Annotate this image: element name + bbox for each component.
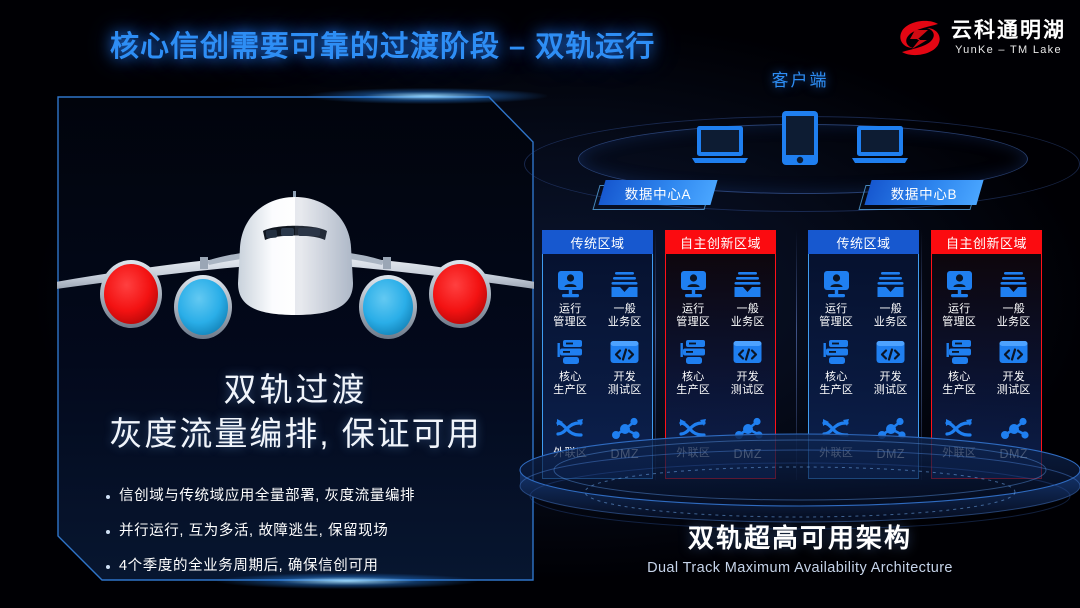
zone-cell-label: DMZ [989,447,1039,462]
zone-row: 运行 管理区 一般 业务区 [809,270,918,329]
tray-stack-icon [866,270,916,300]
bullet-dot-icon [106,565,110,569]
zone-cell[interactable]: 运行 管理区 [668,270,718,329]
zone-header: 传统区域 [808,230,919,254]
network-nodes-icon [989,414,1039,444]
swirl-logo-icon [898,18,942,58]
code-window-icon [989,338,1039,368]
user-monitor-icon [545,270,595,300]
zone-cell-label: 一般 业务区 [989,303,1039,329]
zone-header: 自主创新区域 [931,230,1042,254]
logo-name-en: YunKe – TM Lake [955,44,1062,56]
architecture-caption: 双轨超高可用架构 Dual Track Maximum Availability… [520,518,1080,576]
datacenter-tag-a[interactable]: 数据中心A [602,180,714,206]
datacenter-tag-label: 数据中心A [602,180,714,205]
zone-body: 运行 管理区 一般 业务区 [808,254,919,479]
zone-cell[interactable]: 开发 测试区 [866,338,916,397]
bullet-dot-icon [106,530,110,534]
brand-logo: 云科通明湖 YunKe – TM Lake [898,18,1066,58]
laptop-icon [689,124,751,166]
zone-header: 自主创新区域 [665,230,776,254]
zone-row: 外联区 DMZ [809,414,918,462]
zone-cell-label: 运行 管理区 [811,303,861,329]
headline-line-1: 双轨过渡 [57,368,534,412]
branch-arrows-icon [668,414,718,444]
zone-cell-label: 外联区 [545,447,595,460]
tray-stack-icon [600,270,650,300]
zone-row: 核心 生产区 开发 测试区 [543,338,652,397]
laptop-icon [849,124,911,166]
tray-stack-icon [723,270,773,300]
zone-cell[interactable]: DMZ [866,414,916,462]
zone-cell[interactable]: 运行 管理区 [934,270,984,329]
zone-column-b-traditional[interactable]: 传统区域 运行 管理区 [808,230,919,479]
list-item: 信创域与传统域应用全量部署, 灰度流量编排 [106,486,526,508]
code-window-icon [866,338,916,368]
zone-cell[interactable]: DMZ [723,414,773,462]
server-rack-icon [811,338,861,368]
zone-cell-label: 外联区 [811,447,861,460]
caption-cn: 双轨超高可用架构 [520,518,1080,555]
column-divider [655,230,656,480]
server-rack-icon [545,338,595,368]
network-nodes-icon [723,414,773,444]
user-monitor-icon [934,270,984,300]
zone-row: 核心 生产区 开发 测试区 [809,338,918,397]
headline-line-2: 灰度流量编排, 保证可用 [57,412,534,456]
zone-cell-label: DMZ [866,447,916,462]
list-item: 并行运行, 互为多活, 故障逃生, 保留现场 [106,521,526,543]
zone-cell-label: 运行 管理区 [934,303,984,329]
slide-canvas: 核心信创需要可靠的过渡阶段 – 双轨运行 云科通明湖 YunKe – TM La… [0,0,1080,608]
network-nodes-icon [600,414,650,444]
left-feature-panel: 双轨过渡 灰度流量编排, 保证可用 信创域与传统域应用全量部署, 灰度流量编排 … [57,96,534,581]
zone-cell[interactable]: 核心 生产区 [545,338,595,397]
zone-row: 外联区 DMZ [543,414,652,462]
zone-body: 运行 管理区 一般 业务区 [542,254,653,479]
zone-cell[interactable]: 核心 生产区 [811,338,861,397]
zone-cell[interactable]: 核心 生产区 [668,338,718,397]
zone-cell[interactable]: 外联区 [545,414,595,462]
tray-stack-icon [989,270,1039,300]
zone-cell[interactable]: 一般 业务区 [723,270,773,329]
bullet-text: 信创域与传统域应用全量部署, 灰度流量编排 [119,486,415,508]
code-window-icon [723,338,773,368]
datacenter-tag-b[interactable]: 数据中心B [868,180,980,206]
bullet-text: 4个季度的全业务周期后, 确保信创可用 [119,556,379,578]
zone-cell-label: 开发 测试区 [600,371,650,397]
zone-cell-label: 运行 管理区 [668,303,718,329]
zone-row: 核心 生产区 开发 测试区 [932,338,1041,397]
branch-arrows-icon [545,414,595,444]
zone-row: 外联区 DMZ [932,414,1041,462]
zone-header: 传统区域 [542,230,653,254]
datacenter-tag-label: 数据中心B [868,180,980,205]
zone-cell[interactable]: 一般 业务区 [866,270,916,329]
zone-cell-label: 开发 测试区 [866,371,916,397]
zone-cell-label: 一般 业务区 [866,303,916,329]
zone-cell-label: 开发 测试区 [723,371,773,397]
logo-text: 云科通明湖 YunKe – TM Lake [951,20,1066,56]
zone-cell-label: DMZ [723,447,773,462]
list-item: 4个季度的全业务周期后, 确保信创可用 [106,556,526,578]
logo-name-cn: 云科通明湖 [951,20,1066,42]
client-tier-label: 客户端 [520,66,1080,91]
zone-cell-label: 一般 业务区 [723,303,773,329]
zone-cell[interactable]: 一般 业务区 [989,270,1039,329]
zone-cell[interactable]: 外联区 [934,414,984,462]
zone-cell[interactable]: 运行 管理区 [545,270,595,329]
zone-cell-label: 运行 管理区 [545,303,595,329]
zone-cell-label: 一般 业务区 [600,303,650,329]
zone-cell-label: 外联区 [668,447,718,460]
column-divider [921,230,922,480]
zone-cell-label: 核心 生产区 [668,371,718,397]
zone-body: 运行 管理区 一般 业务区 [931,254,1042,479]
bullet-list: 信创域与传统域应用全量部署, 灰度流量编排 并行运行, 互为多活, 故障逃生, … [106,486,526,590]
server-rack-icon [934,338,984,368]
server-rack-icon [668,338,718,368]
user-monitor-icon [668,270,718,300]
zone-cell-label: 外联区 [934,447,984,460]
code-window-icon [600,338,650,368]
zone-row: 运行 管理区 一般 业务区 [666,270,775,329]
branch-arrows-icon [811,414,861,444]
zone-cell[interactable]: DMZ [989,414,1039,462]
zone-cell[interactable]: 开发 测试区 [723,338,773,397]
headline-block: 双轨过渡 灰度流量编排, 保证可用 [57,368,534,455]
zone-column-a-traditional[interactable]: 传统区域 运行 管理区 [542,230,653,479]
zone-cell-label: 核心 生产区 [811,371,861,397]
zone-column-b-innovation[interactable]: 自主创新区域 运行 管理区 [931,230,1042,479]
caption-en: Dual Track Maximum Availability Architec… [520,560,1080,576]
bullet-text: 并行运行, 互为多活, 故障逃生, 保留现场 [119,521,388,543]
zone-cell[interactable]: DMZ [600,414,650,462]
zone-cell[interactable]: 外联区 [811,414,861,462]
zone-cell-label: 核心 生产区 [934,371,984,397]
bullet-dot-icon [106,495,110,499]
zone-row: 核心 生产区 开发 测试区 [666,338,775,397]
zone-body: 运行 管理区 一般 业务区 [665,254,776,479]
zone-cell[interactable]: 一般 业务区 [600,270,650,329]
zone-cell[interactable]: 核心 生产区 [934,338,984,397]
zone-cell[interactable]: 外联区 [668,414,718,462]
zone-cell[interactable]: 开发 测试区 [989,338,1039,397]
zone-row: 运行 管理区 一般 业务区 [932,270,1041,329]
branch-arrows-icon [934,414,984,444]
zone-cell-label: DMZ [600,447,650,462]
client-device-row [520,100,1080,166]
zone-row: 运行 管理区 一般 业务区 [543,270,652,329]
network-nodes-icon [866,414,916,444]
zone-cell[interactable]: 运行 管理区 [811,270,861,329]
datacenter-divider [796,230,797,480]
user-monitor-icon [811,270,861,300]
zone-column-a-innovation[interactable]: 自主创新区域 运行 管理区 [665,230,776,479]
zone-cell-label: 核心 生产区 [545,371,595,397]
zone-row: 外联区 DMZ [666,414,775,462]
zone-cell-label: 开发 测试区 [989,371,1039,397]
tablet-icon [780,110,820,166]
zone-cell[interactable]: 开发 测试区 [600,338,650,397]
architecture-diagram: 客户端 数据中心A [520,56,1080,608]
